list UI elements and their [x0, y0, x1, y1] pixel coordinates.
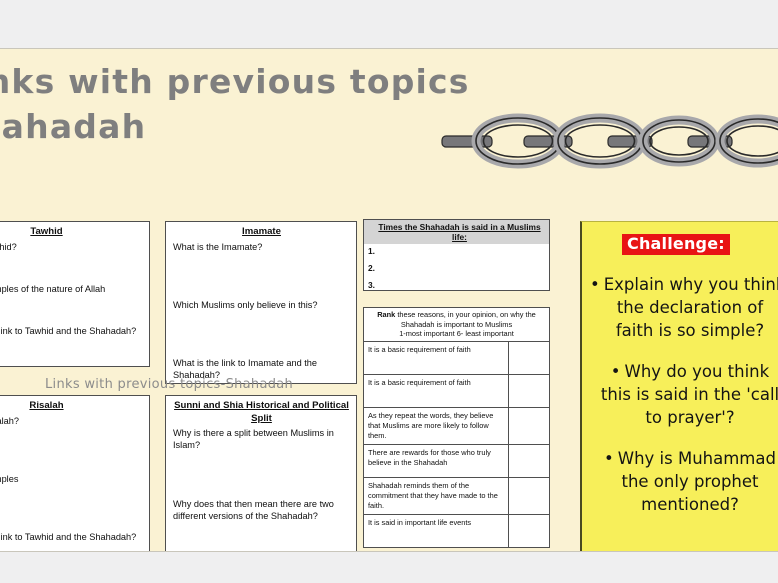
rank-input-3[interactable]: [509, 408, 549, 444]
rank-input-4[interactable]: [509, 445, 549, 477]
spacer: [0, 253, 143, 283]
times-shahadah-table[interactable]: Times the Shahadah is said in a Muslims …: [363, 219, 550, 291]
rank-heading-line3: 1-most important 6- least important: [399, 329, 514, 338]
challenge-item-1: •Explain why you think the declaration o…: [582, 273, 778, 342]
times-table-item-1[interactable]: 1.: [364, 244, 549, 261]
imamate-question-1: What is the Imamate?: [173, 241, 350, 253]
sunni-shia-heading: Sunni and Shia Historical and Political …: [173, 400, 350, 425]
top-chrome-bar: [0, 0, 778, 48]
challenge-item-2-line-3: to prayer'?: [588, 406, 778, 429]
times-table-heading: Times the Shahadah is said in a Muslims …: [364, 220, 549, 244]
tawhid-question-2: Give 3 examples of the nature of Allah: [0, 283, 143, 295]
rank-heading-bold: Rank: [377, 310, 395, 319]
imamate-heading: Imamate: [173, 226, 350, 239]
table-row[interactable]: It is a basic requirement of faith: [364, 375, 549, 408]
sunni-shia-question-2: Why does that then mean there are two di…: [173, 498, 350, 522]
rank-reason-2: It is a basic requirement of faith: [364, 375, 509, 407]
challenge-panel: Challenge: •Explain why you think the de…: [580, 221, 778, 552]
rank-input-1[interactable]: [509, 342, 549, 374]
rank-reasons-table[interactable]: Rank these reasons, in your opinion, on …: [363, 307, 550, 548]
challenge-item-3-line-3: mentioned?: [588, 493, 778, 516]
risalah-question-2: Give 3 examples: [0, 473, 143, 485]
sunni-shia-question-1: Why is there a split between Muslims in …: [173, 427, 350, 451]
challenge-item-2: •Why do you think this is said in the 'c…: [582, 360, 778, 429]
screenshot-viewport: Links with previous topics Shahadah: [0, 0, 778, 583]
page-title: Links with previous topics Shahadah: [0, 59, 472, 149]
rank-reason-1: It is a basic requirement of faith: [364, 342, 509, 374]
challenge-item-3: •Why is Muhammad the only prophet mentio…: [582, 447, 778, 516]
title-line-1: Links with previous topics: [0, 59, 472, 104]
rank-reason-4: There are rewards for those who truly be…: [364, 445, 509, 477]
rank-table-heading: Rank these reasons, in your opinion, on …: [364, 308, 549, 342]
imamate-question-box[interactable]: Imamate What is the Imamate? Which Musli…: [165, 221, 357, 384]
challenge-item-2-line-2: this is said in the 'call: [588, 383, 778, 406]
table-row[interactable]: It is said in important life events: [364, 515, 549, 547]
spacer: [0, 295, 143, 325]
tawhid-question-3: What is the link to Tawhid and the Shaha…: [0, 325, 143, 337]
risalah-question-1: What is Risalah?: [0, 415, 143, 427]
table-row[interactable]: As they repeat the words, they believe t…: [364, 408, 549, 445]
challenge-item-1-line-3: faith is so simple?: [588, 319, 778, 342]
imamate-question-2: Which Muslims only believe in this?: [173, 299, 350, 311]
rank-input-6[interactable]: [509, 515, 549, 547]
rank-reason-3: As they repeat the words, they believe t…: [364, 408, 509, 444]
spacer: [173, 253, 350, 299]
slide-canvas: Links with previous topics Shahadah: [0, 48, 778, 552]
bullet-icon: •: [590, 275, 600, 294]
challenge-item-2-line-1: •Why do you think: [588, 360, 778, 383]
times-table-item-3[interactable]: 3.: [364, 278, 549, 291]
risalah-question-box[interactable]: Risalah What is Risalah? Give 3 examples…: [0, 395, 150, 552]
spacer: [0, 427, 143, 473]
challenge-item-3-text-1: Why is Muhammad: [618, 449, 776, 468]
challenge-item-1-line-1: •Explain why you think: [588, 273, 778, 296]
title-line-2: Shahadah: [0, 104, 472, 149]
table-row[interactable]: There are rewards for those who truly be…: [364, 445, 549, 478]
rank-input-2[interactable]: [509, 375, 549, 407]
challenge-item-2-text-1: Why do you think: [625, 362, 770, 381]
spacer: [0, 485, 143, 531]
risalah-heading: Risalah: [0, 400, 143, 413]
risalah-question-3: What is the link to Tawhid and the Shaha…: [0, 531, 143, 543]
challenge-title: Challenge:: [622, 234, 730, 255]
bullet-icon: •: [611, 362, 621, 381]
spacer: [173, 311, 350, 357]
table-row[interactable]: It is a basic requirement of faith: [364, 342, 549, 375]
challenge-item-3-line-2: the only prophet: [588, 470, 778, 493]
rank-reason-5: Shahadah reminds them of the commitment …: [364, 478, 509, 514]
bullet-icon: •: [604, 449, 614, 468]
challenge-item-1-line-2: the declaration of: [588, 296, 778, 319]
chain-links-icon: [432, 111, 778, 173]
bottom-chrome-bar: [0, 553, 778, 583]
challenge-item-1-text-1: Explain why you think: [604, 275, 778, 294]
challenge-item-3-line-1: •Why is Muhammad: [588, 447, 778, 470]
tawhid-question-1: What is Tawhid?: [0, 241, 143, 253]
table-row[interactable]: Shahadah reminds them of the commitment …: [364, 478, 549, 515]
rank-reason-6: It is said in important life events: [364, 515, 509, 547]
rank-heading-rest: these reasons, in your opinion, on why t…: [395, 310, 536, 329]
times-table-item-2[interactable]: 2.: [364, 261, 549, 278]
tawhid-question-box[interactable]: Tawhid What is Tawhid? Give 3 examples o…: [0, 221, 150, 367]
slide-watermark: Links with previous topics-Shahadah: [45, 377, 293, 392]
rank-input-5[interactable]: [509, 478, 549, 514]
spacer: [173, 452, 350, 498]
sunni-shia-question-box[interactable]: Sunni and Shia Historical and Political …: [165, 395, 357, 552]
tawhid-heading: Tawhid: [0, 226, 143, 239]
